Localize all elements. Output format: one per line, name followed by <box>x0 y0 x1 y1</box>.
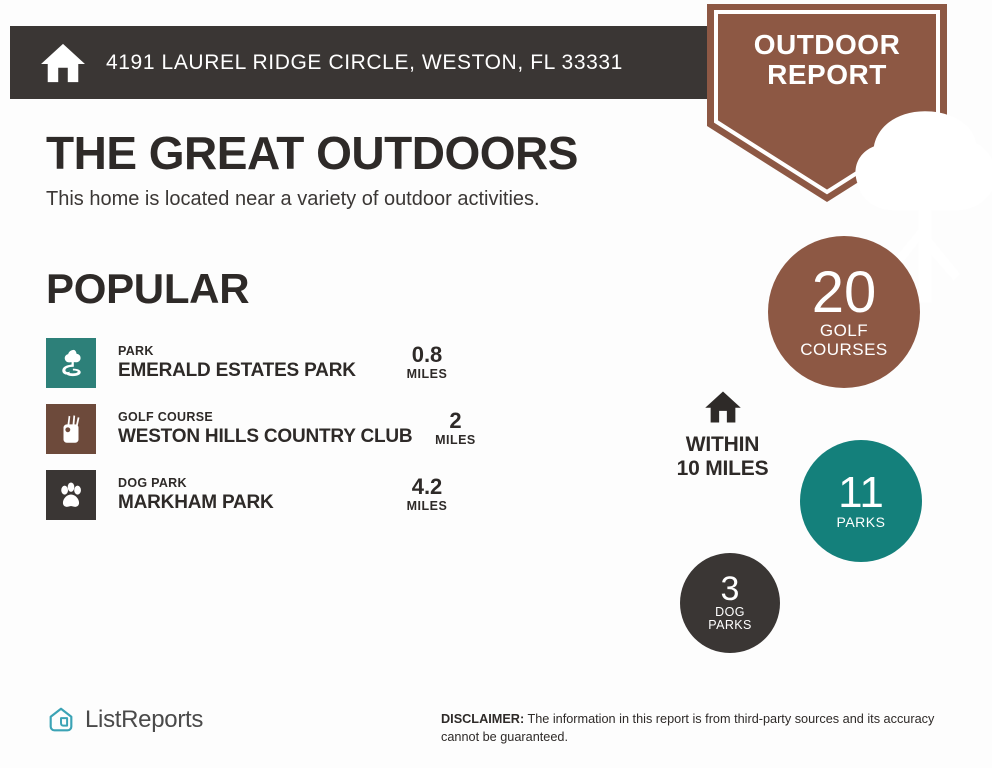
list-item[interactable]: GOLF COURSE WESTON HILLS COUNTRY CLUB 2 … <box>46 400 466 458</box>
stat-label-line2: COURSES <box>800 341 888 359</box>
poi-distance: 0.8 MILES <box>388 343 466 382</box>
poi-distance-value: 2 <box>416 409 494 432</box>
poi-distance-unit: MILES <box>388 366 466 382</box>
poi-text: GOLF COURSE WESTON HILLS COUNTRY CLUB <box>118 410 412 447</box>
within-line1: WITHIN <box>655 433 790 457</box>
poi-distance: 2 MILES <box>416 409 494 448</box>
park-tree-icon <box>56 348 86 378</box>
stat-circle-dog-parks: 3 DOG PARKS <box>680 553 780 653</box>
outdoor-report-page: 4191 LAUREL RIDGE CIRCLE, WESTON, FL 333… <box>0 0 992 768</box>
badge-title: OUTDOOR REPORT <box>707 30 947 90</box>
list-item[interactable]: DOG PARK MARKHAM PARK 4.2 MILES <box>46 466 466 524</box>
poi-name: WESTON HILLS COUNTRY CLUB <box>118 426 412 448</box>
page-title: THE GREAT OUTDOORS <box>46 126 578 180</box>
stat-label-line1: PARKS <box>837 515 886 530</box>
poi-name: EMERALD ESTATES PARK <box>118 360 384 382</box>
poi-category: PARK <box>118 344 384 360</box>
listreports-house-icon <box>46 705 76 735</box>
stat-label: DOG PARKS <box>708 606 751 633</box>
poi-icon-box <box>46 338 96 388</box>
stat-label: PARKS <box>837 515 886 530</box>
poi-text: PARK EMERALD ESTATES PARK <box>118 344 384 381</box>
badge-title-line2: REPORT <box>707 60 947 90</box>
listreports-logo-text: ListReports <box>85 706 203 734</box>
property-address: 4191 LAUREL RIDGE CIRCLE, WESTON, FL 333… <box>106 51 623 75</box>
home-icon <box>40 42 86 84</box>
list-item[interactable]: PARK EMERALD ESTATES PARK 0.8 MILES <box>46 334 466 392</box>
stat-circle-parks: 11 PARKS <box>800 440 922 562</box>
stat-label-line1: GOLF <box>800 322 888 340</box>
poi-icon-box <box>46 470 96 520</box>
poi-distance-unit: MILES <box>416 432 494 448</box>
stat-label: GOLF COURSES <box>800 322 888 359</box>
home-icon <box>703 390 743 424</box>
within-radius-block: WITHIN 10 MILES <box>655 390 790 480</box>
poi-distance-value: 0.8 <box>388 343 466 366</box>
stat-circle-golf-courses: 20 GOLF COURSES <box>768 236 920 388</box>
within-line2: 10 MILES <box>655 457 790 481</box>
stat-value: 3 <box>721 573 740 605</box>
within-radius-text: WITHIN 10 MILES <box>655 433 790 480</box>
popular-list: PARK EMERALD ESTATES PARK 0.8 MILES GOLF… <box>46 334 466 532</box>
poi-distance-value: 4.2 <box>388 475 466 498</box>
badge-title-line1: OUTDOOR <box>707 30 947 60</box>
paw-print-icon <box>56 480 86 510</box>
outdoor-report-badge: OUTDOOR REPORT <box>707 4 947 202</box>
stat-value: 11 <box>838 472 884 514</box>
disclaimer-label: DISCLAIMER: <box>441 712 524 726</box>
stat-value: 20 <box>812 265 877 320</box>
poi-category: DOG PARK <box>118 476 384 492</box>
stat-label-line1: DOG <box>708 606 751 620</box>
poi-text: DOG PARK MARKHAM PARK <box>118 476 384 513</box>
disclaimer: DISCLAIMER: The information in this repo… <box>441 710 961 746</box>
poi-category: GOLF COURSE <box>118 410 412 426</box>
poi-name: MARKHAM PARK <box>118 492 384 514</box>
listreports-logo[interactable]: ListReports <box>46 705 203 735</box>
popular-heading: POPULAR <box>46 265 249 313</box>
stat-label-line2: PARKS <box>708 619 751 633</box>
golf-bag-icon <box>56 414 86 444</box>
poi-distance-unit: MILES <box>388 498 466 514</box>
poi-distance: 4.2 MILES <box>388 475 466 514</box>
page-subtitle: This home is located near a variety of o… <box>46 188 540 211</box>
poi-icon-box <box>46 404 96 454</box>
